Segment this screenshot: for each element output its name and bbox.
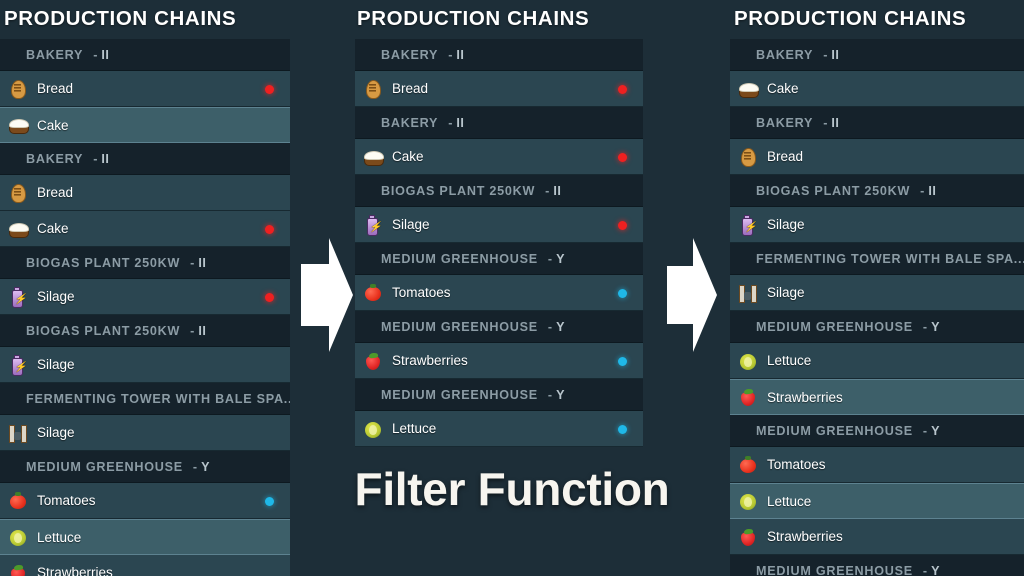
group-name: MEDIUM GREENHOUSE xyxy=(756,424,913,438)
production-item-row[interactable]: Silage xyxy=(0,415,290,451)
production-item-row[interactable]: Strawberries xyxy=(355,343,643,379)
production-group-header: BIOGAS PLANT 250KW-II xyxy=(730,175,1024,207)
bread-icon xyxy=(8,79,28,99)
lightning-bolt-icon: ⚡ xyxy=(744,223,756,233)
status-indicator-red xyxy=(618,85,627,94)
product-name: Strawberries xyxy=(392,353,468,368)
group-separator: - xyxy=(190,324,194,338)
group-level-badge: II xyxy=(553,184,561,198)
group-name: BIOGAS PLANT 250KW xyxy=(26,324,180,338)
group-separator: - xyxy=(545,184,549,198)
group-name: MEDIUM GREENHOUSE xyxy=(381,388,538,402)
status-indicator-blue xyxy=(618,425,627,434)
group-level-badge: II xyxy=(928,184,936,198)
production-item-row[interactable]: Cake xyxy=(0,107,290,143)
group-name: BAKERY xyxy=(381,116,438,130)
product-name: Lettuce xyxy=(767,494,811,509)
lightning-bolt-icon: ⚡ xyxy=(369,223,381,233)
group-level-badge: II xyxy=(456,116,464,130)
bale-center xyxy=(14,432,21,440)
production-item-row[interactable]: Silage xyxy=(730,275,1024,311)
strawberry-icon xyxy=(363,351,383,371)
production-item-row[interactable]: ⚡Silage xyxy=(730,207,1024,243)
cake-icon xyxy=(8,115,28,135)
group-name: MEDIUM GREENHOUSE xyxy=(756,320,913,334)
production-group-header: BIOGAS PLANT 250KW-II xyxy=(355,175,643,207)
product-name: Tomatoes xyxy=(392,285,451,300)
production-chain-list[interactable]: BAKERY-IIBreadCakeBAKERY-IIBreadCakeBIOG… xyxy=(0,39,290,576)
silage-bottle-icon: ⚡ xyxy=(8,287,28,307)
production-group-header: BAKERY-II xyxy=(355,39,643,71)
production-group-header: FERMENTING TOWER WITH BALE SPA... xyxy=(0,383,290,415)
page-title: PRODUCTION CHAINS xyxy=(730,0,1024,39)
lightning-bolt-icon: ⚡ xyxy=(14,295,26,305)
group-separator: - xyxy=(93,48,97,62)
production-item-row[interactable]: Strawberries xyxy=(730,379,1024,415)
group-separator: - xyxy=(923,320,927,334)
group-separator: - xyxy=(923,564,927,576)
strawberry-icon xyxy=(738,527,758,547)
production-item-row[interactable]: ⚡Silage xyxy=(355,207,643,243)
status-indicator-red xyxy=(618,221,627,230)
group-level-badge: Y xyxy=(556,252,565,266)
group-level-badge: II xyxy=(198,324,206,338)
group-name: BIOGAS PLANT 250KW xyxy=(381,184,535,198)
production-group-header: BAKERY-II xyxy=(730,39,1024,71)
product-name: Tomatoes xyxy=(37,493,96,508)
group-level-badge: II xyxy=(831,48,839,62)
group-level-badge: Y xyxy=(556,320,565,334)
product-name: Cake xyxy=(37,118,69,133)
production-group-header: MEDIUM GREENHOUSE-Y xyxy=(730,415,1024,447)
production-group-header: BAKERY-II xyxy=(355,107,643,139)
tomato-icon xyxy=(363,283,383,303)
group-separator: - xyxy=(923,424,927,438)
production-item-row[interactable]: ⚡Silage xyxy=(0,347,290,383)
group-name: BAKERY xyxy=(756,116,813,130)
product-name: Strawberries xyxy=(767,529,843,544)
strawberry-icon xyxy=(8,563,28,576)
production-chains-panel-unfiltered: PRODUCTION CHAINS BAKERY-IIBreadCakeBAKE… xyxy=(0,0,290,576)
production-group-header: BIOGAS PLANT 250KW-II xyxy=(0,315,290,347)
group-name: BAKERY xyxy=(26,48,83,62)
product-name: Silage xyxy=(392,217,430,232)
group-level-badge: Y xyxy=(201,460,210,474)
production-item-row[interactable]: Cake xyxy=(0,211,290,247)
lettuce-icon xyxy=(363,419,383,439)
status-indicator-red xyxy=(265,85,274,94)
lettuce-icon xyxy=(8,527,28,547)
production-item-row[interactable]: Cake xyxy=(355,139,643,175)
group-name: MEDIUM GREENHOUSE xyxy=(381,320,538,334)
group-separator: - xyxy=(190,256,194,270)
production-item-row[interactable]: Bread xyxy=(0,71,290,107)
production-item-row[interactable]: Lettuce xyxy=(0,519,290,555)
product-name: Cake xyxy=(392,149,424,164)
product-name: Lettuce xyxy=(767,353,811,368)
production-group-header: FERMENTING TOWER WITH BALE SPA... xyxy=(730,243,1024,275)
group-separator: - xyxy=(448,116,452,130)
production-item-row[interactable]: Strawberries xyxy=(0,555,290,576)
product-name: Lettuce xyxy=(392,421,436,436)
group-name: BIOGAS PLANT 250KW xyxy=(756,184,910,198)
status-indicator-red xyxy=(265,225,274,234)
group-separator: - xyxy=(193,460,197,474)
production-group-header: MEDIUM GREENHOUSE-Y xyxy=(355,311,643,343)
status-indicator-blue xyxy=(618,357,627,366)
strawberry-icon xyxy=(738,387,758,407)
product-name: Lettuce xyxy=(37,530,81,545)
page-title: PRODUCTION CHAINS xyxy=(355,0,643,39)
arrow-right-icon xyxy=(299,236,355,354)
group-name: FERMENTING TOWER WITH BALE SPA... xyxy=(26,392,290,406)
silage-bale-icon xyxy=(738,283,758,303)
cake-icon xyxy=(8,219,28,239)
production-item-row[interactable]: Bread xyxy=(355,71,643,107)
group-level-badge: II xyxy=(831,116,839,130)
silage-bale-icon xyxy=(8,423,28,443)
group-separator: - xyxy=(823,116,827,130)
group-name: MEDIUM GREENHOUSE xyxy=(381,252,538,266)
group-separator: - xyxy=(93,152,97,166)
product-name: Cake xyxy=(767,81,799,96)
product-name: Silage xyxy=(37,425,75,440)
production-group-header: BAKERY-II xyxy=(0,143,290,175)
cake-icon xyxy=(738,79,758,99)
product-name: Silage xyxy=(37,289,75,304)
group-level-badge: II xyxy=(198,256,206,270)
production-group-header: MEDIUM GREENHOUSE-Y xyxy=(0,451,290,483)
product-name: Cake xyxy=(37,221,69,236)
tomato-icon xyxy=(8,491,28,511)
group-level-badge: Y xyxy=(931,424,940,438)
group-level-badge: II xyxy=(101,48,109,62)
bread-icon xyxy=(8,183,28,203)
status-indicator-red xyxy=(265,293,274,302)
production-chains-panel-filtered: PRODUCTION CHAINS BAKERY-IIBreadBAKERY-I… xyxy=(355,0,643,447)
lettuce-icon xyxy=(738,491,758,511)
group-separator: - xyxy=(548,388,552,402)
group-name: FERMENTING TOWER WITH BALE SPA... xyxy=(756,252,1024,266)
production-item-row[interactable]: Lettuce xyxy=(730,343,1024,379)
group-separator: - xyxy=(448,48,452,62)
product-name: Bread xyxy=(37,185,73,200)
production-item-row[interactable]: Bread xyxy=(730,139,1024,175)
production-group-header: BAKERY-II xyxy=(730,107,1024,139)
production-item-row[interactable]: Strawberries xyxy=(730,519,1024,555)
status-indicator-red xyxy=(618,153,627,162)
group-separator: - xyxy=(920,184,924,198)
product-name: Silage xyxy=(37,357,75,372)
silage-bottle-icon: ⚡ xyxy=(738,215,758,235)
group-separator: - xyxy=(548,320,552,334)
production-group-header: BAKERY-II xyxy=(0,39,290,71)
production-chains-panel-sorted: PRODUCTION CHAINS BAKERY-IICakeBAKERY-II… xyxy=(730,0,1024,576)
status-indicator-blue xyxy=(265,497,274,506)
group-name: BAKERY xyxy=(756,48,813,62)
production-item-row[interactable]: Lettuce xyxy=(730,483,1024,519)
product-name: Bread xyxy=(37,81,73,96)
production-item-row[interactable]: Tomatoes xyxy=(355,275,643,311)
bread-icon xyxy=(363,79,383,99)
production-chain-list[interactable]: BAKERY-IICakeBAKERY-IIBreadBIOGAS PLANT … xyxy=(730,39,1024,576)
product-name: Silage xyxy=(767,285,805,300)
silage-bottle-icon: ⚡ xyxy=(8,355,28,375)
production-group-header: BIOGAS PLANT 250KW-II xyxy=(0,247,290,279)
production-group-header: MEDIUM GREENHOUSE-Y xyxy=(355,243,643,275)
production-item-row[interactable]: ⚡Silage xyxy=(0,279,290,315)
silage-bottle-icon: ⚡ xyxy=(363,215,383,235)
group-level-badge: II xyxy=(456,48,464,62)
arrow-right-icon xyxy=(667,236,719,354)
group-level-badge: Y xyxy=(931,564,940,576)
tomato-icon xyxy=(738,455,758,475)
group-level-badge: Y xyxy=(931,320,940,334)
lightning-bolt-icon: ⚡ xyxy=(14,363,26,373)
group-name: MEDIUM GREENHOUSE xyxy=(756,564,913,576)
page-title: PRODUCTION CHAINS xyxy=(0,0,290,39)
product-name: Strawberries xyxy=(37,565,113,576)
bread-icon xyxy=(738,147,758,167)
production-item-row[interactable]: Tomatoes xyxy=(730,447,1024,483)
production-group-header: MEDIUM GREENHOUSE-Y xyxy=(355,379,643,411)
production-item-row[interactable]: Tomatoes xyxy=(0,483,290,519)
group-level-badge: Y xyxy=(556,388,565,402)
production-item-row[interactable]: Bread xyxy=(0,175,290,211)
production-group-header: MEDIUM GREENHOUSE-Y xyxy=(730,555,1024,576)
lettuce-icon xyxy=(738,351,758,371)
product-name: Silage xyxy=(767,217,805,232)
status-indicator-blue xyxy=(618,289,627,298)
production-item-row[interactable]: Cake xyxy=(730,71,1024,107)
group-separator: - xyxy=(823,48,827,62)
product-name: Tomatoes xyxy=(767,457,826,472)
product-name: Bread xyxy=(767,149,803,164)
bale-center xyxy=(744,292,751,300)
group-name: BAKERY xyxy=(381,48,438,62)
production-group-header: MEDIUM GREENHOUSE-Y xyxy=(730,311,1024,343)
group-name: BAKERY xyxy=(26,152,83,166)
product-name: Strawberries xyxy=(767,390,843,405)
product-name: Bread xyxy=(392,81,428,96)
production-chain-list[interactable]: BAKERY-IIBreadBAKERY-IICakeBIOGAS PLANT … xyxy=(355,39,643,447)
production-item-row[interactable]: Lettuce xyxy=(355,411,643,447)
cake-icon xyxy=(363,147,383,167)
group-name: MEDIUM GREENHOUSE xyxy=(26,460,183,474)
group-name: BIOGAS PLANT 250KW xyxy=(26,256,180,270)
group-separator: - xyxy=(548,252,552,266)
group-level-badge: II xyxy=(101,152,109,166)
